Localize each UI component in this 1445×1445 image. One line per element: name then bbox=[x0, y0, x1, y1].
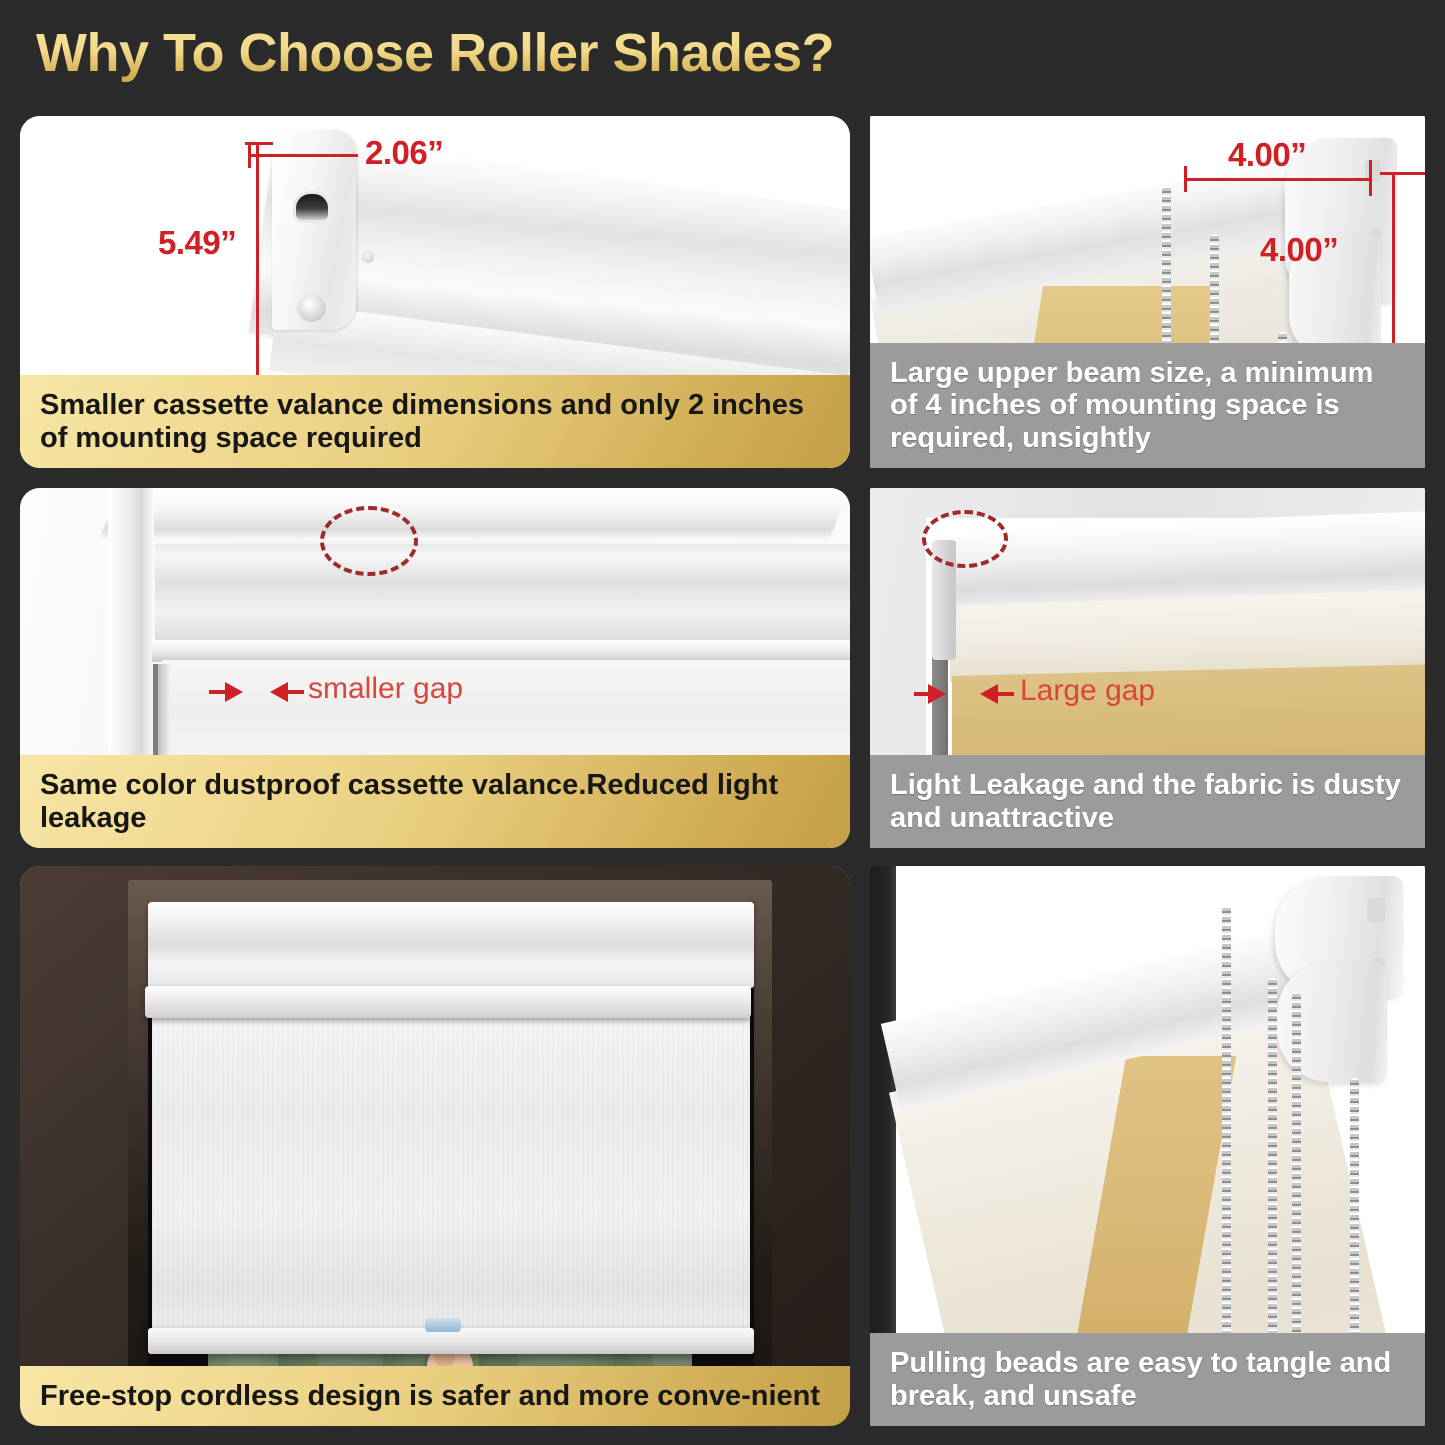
gap-arrow-right-tail bbox=[286, 690, 304, 694]
highlight-circle-icon bbox=[922, 510, 1008, 568]
panel-cassette-dimensions: 2.06” 5.49” Smaller cassette valance dim… bbox=[20, 116, 850, 468]
shade-fabric bbox=[152, 1016, 750, 1338]
panel-caption: Same color dustproof cassette valance.Re… bbox=[20, 755, 850, 848]
gap-arrow-right-tail bbox=[996, 692, 1014, 696]
valance-slot bbox=[296, 194, 328, 220]
cassette-lip bbox=[152, 640, 850, 662]
panel-cordless: Free-stop cordless design is safer and m… bbox=[20, 866, 850, 1426]
bead-chain-3 bbox=[1292, 992, 1301, 1374]
page-title: Why To Choose Roller Shades? bbox=[36, 22, 834, 84]
highlight-circle-icon bbox=[320, 506, 418, 576]
large-gap-label: Large gap bbox=[1020, 674, 1155, 708]
height-tick-top bbox=[1380, 172, 1425, 175]
panel-caption: Light Leakage and the fabric is dusty an… bbox=[870, 755, 1425, 848]
height-dimension-label: 5.49” bbox=[158, 224, 236, 262]
height-dimension-label: 4.00” bbox=[1260, 231, 1338, 269]
valance-lip bbox=[145, 986, 751, 1018]
bead-chain-1 bbox=[1222, 906, 1231, 1374]
pull-grip bbox=[425, 1318, 461, 1332]
width-tick-left bbox=[1184, 166, 1187, 192]
panel-caption: Pulling beads are easy to tangle and bre… bbox=[870, 1333, 1425, 1426]
smaller-gap-label: smaller gap bbox=[308, 672, 463, 706]
cassette-valance bbox=[155, 544, 850, 654]
panel-smaller-gap: smaller gap Same color dustproof cassett… bbox=[20, 488, 850, 848]
panel-caption: Large upper beam size, a minimum of 4 in… bbox=[870, 343, 1425, 468]
bracket-notch-1 bbox=[1367, 898, 1385, 922]
panel-light-leakage: Large gap Light Leakage and the fabric i… bbox=[870, 488, 1425, 848]
width-dimension-line bbox=[1184, 178, 1372, 181]
panel-caption: Free-stop cordless design is safer and m… bbox=[20, 1366, 850, 1426]
width-tick-right bbox=[1369, 160, 1372, 196]
window-frame-top bbox=[99, 488, 850, 540]
width-dimension-line bbox=[248, 154, 358, 157]
panel-caption: Smaller cassette valance dimensions and … bbox=[20, 375, 850, 468]
height-tick-top bbox=[245, 142, 273, 145]
infographic-page: Why To Choose Roller Shades? 2.06” bbox=[0, 0, 1445, 1445]
gap-arrow-left-tail bbox=[914, 692, 932, 696]
panel-pulling-beads: Pulling beads are easy to tangle and bre… bbox=[870, 866, 1425, 1426]
comparison-grid: 2.06” 5.49” Smaller cassette valance dim… bbox=[0, 108, 1445, 1445]
width-tick-left bbox=[248, 142, 251, 168]
bead-chain-2 bbox=[1268, 978, 1277, 1374]
panel-large-beam: 4.00” 4.00” Large upper beam size, a min… bbox=[870, 116, 1425, 468]
width-dimension-label: 4.00” bbox=[1228, 136, 1306, 174]
height-dimension-line bbox=[1392, 172, 1395, 364]
cordless-window-photo bbox=[20, 866, 850, 1426]
cassette-valance bbox=[148, 902, 754, 988]
valance-screw-upper bbox=[362, 251, 374, 263]
valance-screw-lower bbox=[298, 294, 326, 322]
gap-arrow-left-icon bbox=[225, 682, 243, 702]
bead-chain-4 bbox=[1350, 1078, 1359, 1374]
gap-arrow-left-tail bbox=[209, 690, 227, 694]
width-dimension-label: 2.06” bbox=[365, 134, 443, 172]
